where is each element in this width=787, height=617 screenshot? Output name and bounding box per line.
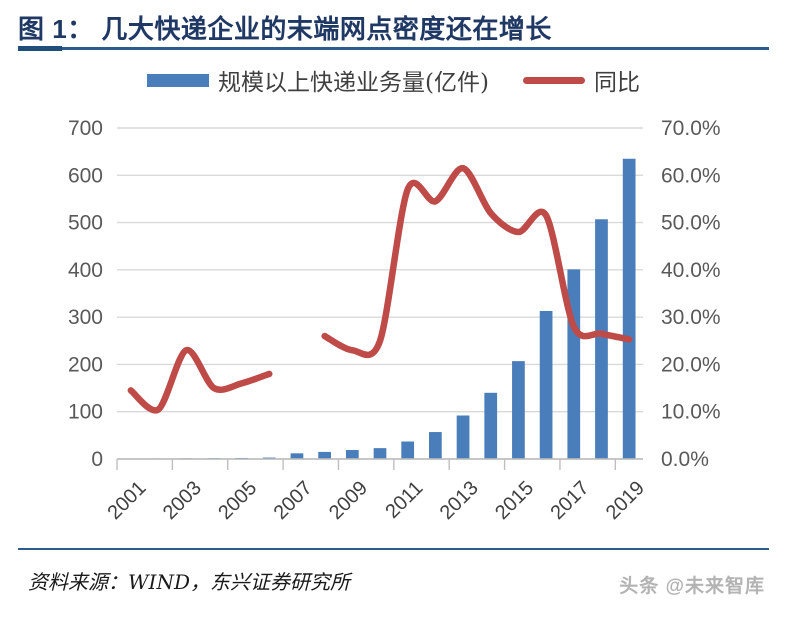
right-axis-tick-label: 30.0% — [661, 306, 721, 329]
x-axis-tick-label: 2011 — [381, 477, 427, 523]
chart-legend: 规模以上快递业务量(亿件) 同比 — [0, 62, 787, 98]
legend-item-volume[interactable]: 规模以上快递业务量(亿件) — [147, 63, 489, 97]
watermark: 头条 @未来智库 — [619, 571, 765, 598]
bar — [429, 432, 442, 459]
bar — [512, 361, 525, 459]
x-axis-tick-label: 2003 — [159, 477, 206, 524]
line-segment — [325, 168, 630, 355]
x-axis-tick-labels: 2001200320052007200920112013201520172019 — [104, 477, 649, 524]
right-axis-tick-label: 10.0% — [661, 401, 721, 424]
left-axis-tick-label: 400 — [68, 259, 103, 282]
legend-bar-swatch-icon — [147, 74, 209, 87]
bar — [374, 448, 387, 459]
x-axis-tick-label: 2017 — [546, 477, 593, 524]
bar-series — [124, 159, 635, 459]
left-axis-tick-label: 600 — [68, 164, 103, 187]
left-axis-tick-label: 300 — [68, 306, 103, 329]
right-axis-tick-label: 70.0% — [661, 117, 721, 140]
right-axis-tick-label: 40.0% — [661, 259, 721, 282]
legend-line-swatch-icon — [523, 77, 585, 84]
right-axis-tick-labels: 0.0%10.0%20.0%30.0%40.0%50.0%60.0%70.0% — [661, 117, 721, 471]
legend-item-yoy[interactable]: 同比 — [523, 63, 640, 97]
bar — [401, 442, 414, 459]
x-axis — [117, 459, 643, 470]
left-axis-tick-label: 0 — [91, 448, 103, 471]
x-axis-tick-label: 2009 — [325, 477, 372, 524]
figure-header: 图 1： 几大快递企业的末端网点密度还在增长 — [0, 0, 787, 52]
header-divider — [18, 47, 769, 50]
chart-svg: 0100200300400500600700 0.0%10.0%20.0%30.… — [0, 106, 787, 546]
bar — [623, 159, 636, 459]
x-axis-tick-label: 2019 — [602, 477, 649, 524]
x-axis-tick-label: 2013 — [436, 477, 483, 524]
right-axis-tick-label: 60.0% — [661, 164, 721, 187]
footer-divider — [18, 548, 769, 550]
x-axis-tick-label: 2001 — [104, 477, 151, 524]
bar — [540, 311, 553, 459]
x-axis-tick-label: 2005 — [214, 477, 261, 524]
bar — [291, 453, 304, 459]
legend-item-yoy-label: 同比 — [594, 63, 640, 97]
line-series — [131, 168, 629, 410]
x-axis-tick-label: 2015 — [491, 477, 538, 524]
bar — [484, 393, 497, 459]
source-note: 资料来源：WIND，东兴证券研究所 — [28, 566, 350, 595]
bar — [567, 269, 580, 459]
header-divider-accent — [18, 46, 62, 51]
x-axis-tick-label: 2007 — [270, 477, 317, 524]
left-axis-tick-label: 700 — [68, 117, 103, 140]
legend-item-volume-label: 规模以上快递业务量(亿件) — [218, 63, 489, 97]
chart-plot-area: 0100200300400500600700 0.0%10.0%20.0%30.… — [0, 106, 787, 546]
bar — [346, 450, 359, 459]
figure-footer: 资料来源：WIND，东兴证券研究所 头条 @未来智库 — [0, 548, 787, 617]
right-axis-tick-label: 50.0% — [661, 212, 721, 235]
right-axis-tick-label: 20.0% — [661, 353, 721, 376]
left-axis-tick-label: 200 — [68, 353, 103, 376]
left-axis-tick-label: 100 — [68, 401, 103, 424]
right-axis-tick-label: 0.0% — [661, 448, 709, 471]
bar — [318, 452, 331, 459]
line-segment — [131, 350, 269, 410]
bar — [595, 219, 608, 459]
bar — [457, 415, 470, 459]
page-title: 图 1： 几大快递企业的末端网点密度还在增长 — [18, 9, 552, 46]
left-axis-tick-labels: 0100200300400500600700 — [68, 117, 103, 471]
left-axis-tick-label: 500 — [68, 212, 103, 235]
